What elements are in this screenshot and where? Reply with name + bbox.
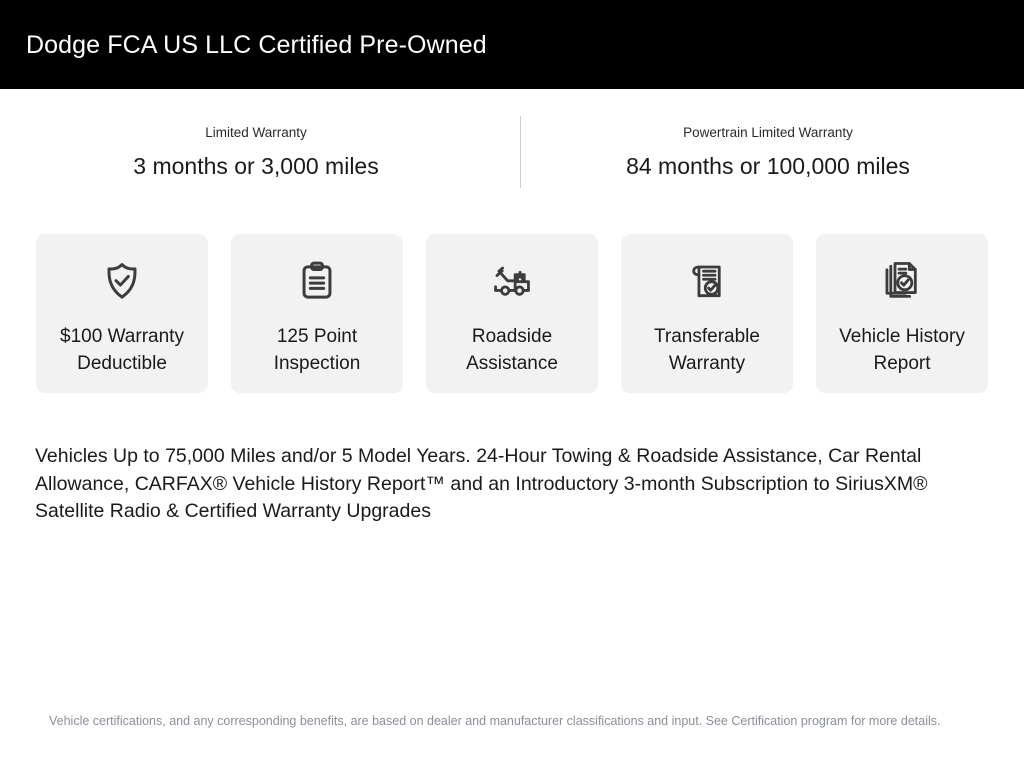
tow-truck-icon	[489, 258, 535, 304]
page-header: Dodge FCA US LLC Certified Pre-Owned	[0, 0, 1024, 89]
disclaimer-text: Vehicle certifications, and any correspo…	[49, 712, 985, 731]
limited-warranty-block: Limited Warranty 3 months or 3,000 miles	[0, 110, 512, 180]
shield-check-icon	[99, 258, 145, 304]
feature-card-label: Vehicle History Report	[816, 324, 988, 378]
program-description: Vehicles Up to 75,000 Miles and/or 5 Mod…	[35, 443, 991, 526]
certificate-check-icon	[684, 258, 730, 304]
feature-card-label: Transferable Warranty	[621, 324, 793, 378]
powertrain-warranty-label: Powertrain Limited Warranty	[512, 124, 1024, 142]
warranty-summary: Limited Warranty 3 months or 3,000 miles…	[0, 110, 1024, 190]
feature-card-warranty-deductible: $100 Warranty Deductible	[36, 234, 208, 393]
documents-check-icon	[879, 258, 925, 304]
feature-card-label: 125 Point Inspection	[231, 324, 403, 378]
page-title: Dodge FCA US LLC Certified Pre-Owned	[0, 30, 487, 60]
feature-card-vehicle-history-report: Vehicle History Report	[816, 234, 988, 393]
feature-card-label: $100 Warranty Deductible	[36, 324, 208, 378]
certified-pre-owned-panel: Dodge FCA US LLC Certified Pre-Owned Lim…	[0, 0, 1024, 768]
feature-card-label: Roadside Assistance	[426, 324, 598, 378]
clipboard-icon	[294, 258, 340, 304]
powertrain-warranty-value: 84 months or 100,000 miles	[512, 152, 1024, 181]
limited-warranty-label: Limited Warranty	[0, 124, 512, 142]
feature-card-point-inspection: 125 Point Inspection	[231, 234, 403, 393]
feature-card-roadside-assistance: Roadside Assistance	[426, 234, 598, 393]
feature-card-list: $100 Warranty Deductible 125 Point Inspe…	[36, 234, 988, 393]
feature-card-transferable-warranty: Transferable Warranty	[621, 234, 793, 393]
powertrain-warranty-block: Powertrain Limited Warranty 84 months or…	[512, 110, 1024, 180]
limited-warranty-value: 3 months or 3,000 miles	[0, 152, 512, 181]
warranty-divider	[520, 116, 521, 188]
